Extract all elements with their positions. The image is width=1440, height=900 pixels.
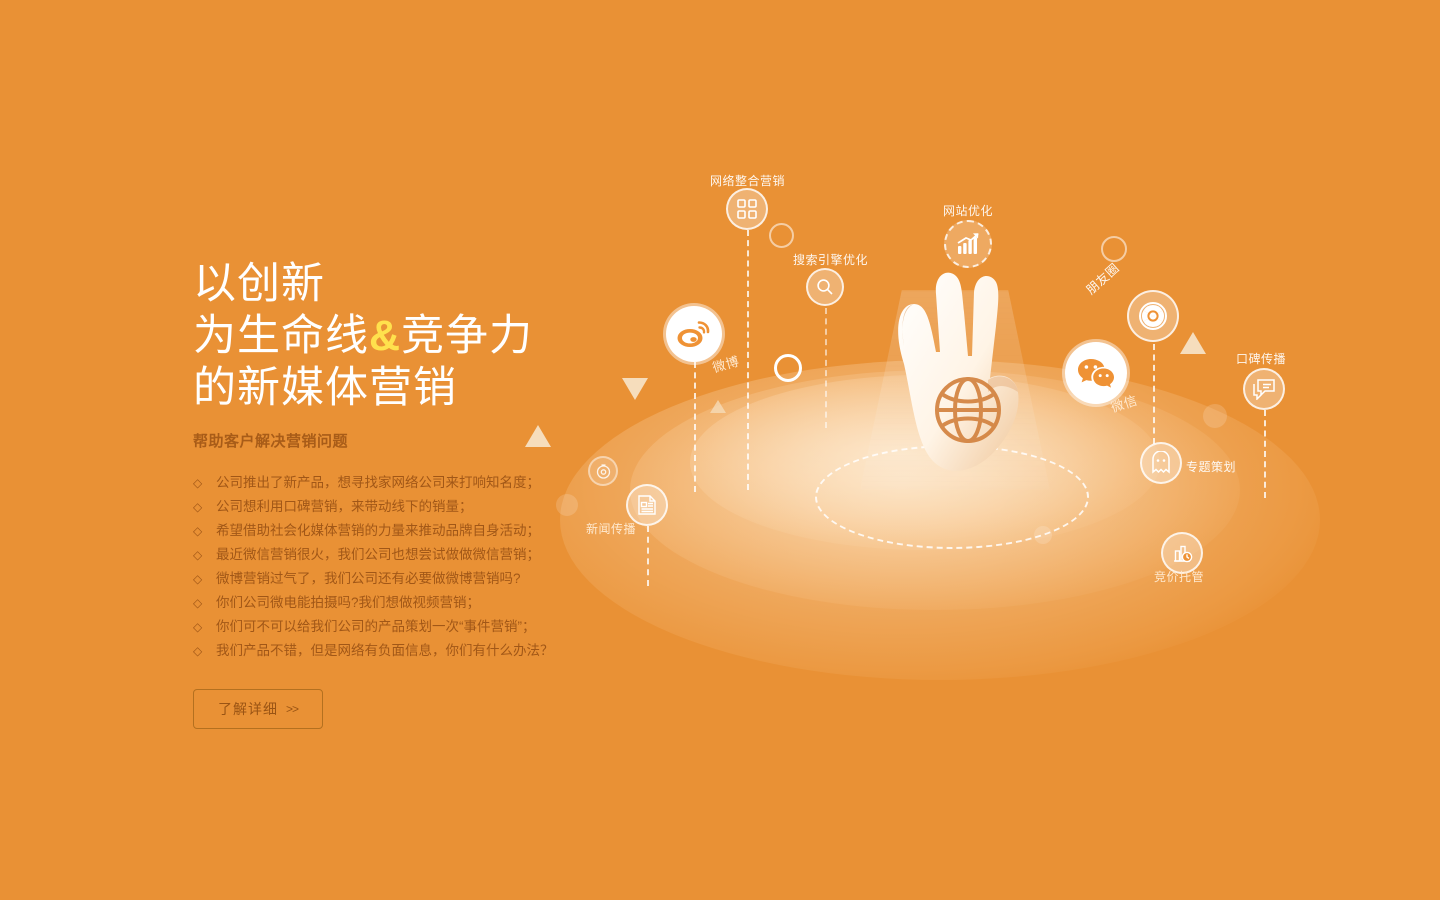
node-label-bidding-hosting: 竞价托管	[1154, 568, 1204, 585]
marketing-network-illustration: 网络整合营销 搜索引擎优化	[540, 120, 1340, 680]
list-item-label: 微博营销过气了，我们公司还有必要做微博营销吗?	[216, 567, 521, 591]
headline-line-2-head: 为生命线	[193, 312, 369, 360]
headline-ampersand: &	[369, 312, 401, 360]
node-label-news-spread: 新闻传播	[586, 520, 636, 537]
node-label-integrated-marketing: 网络整合营销	[710, 172, 785, 189]
triangle-up-decoration	[525, 425, 551, 447]
node-label-seo: 搜索引擎优化	[793, 251, 868, 268]
connector-line	[747, 230, 749, 490]
aperture-icon[interactable]	[1127, 290, 1179, 342]
list-item-label: 公司想利用口碑营销，来带动线下的销量；	[216, 495, 473, 519]
diamond-bullet-icon: ◇	[193, 519, 207, 543]
learn-more-label: 了解详细	[218, 699, 278, 719]
list-item-label: 你们可不可以给我们公司的产品策划一次“事件营销”；	[216, 615, 536, 639]
circle-filled-decoration	[556, 494, 578, 516]
diamond-bullet-icon: ◇	[193, 495, 207, 519]
diamond-bullet-icon: ◇	[193, 567, 207, 591]
circle-filled-decoration	[1034, 526, 1052, 544]
chat-bubbles-icon[interactable]	[1243, 368, 1285, 410]
connector-line	[1264, 410, 1266, 498]
triangle-up-decoration	[1180, 332, 1206, 354]
node-label-weibo: 微博	[710, 351, 741, 377]
headline-line-2-tail: 竞争力	[401, 312, 533, 360]
bar-chart-arrow-icon[interactable]	[944, 220, 992, 268]
double-chevron-right-icon: >>	[286, 702, 298, 716]
list-item-label: 我们产品不错，但是网络有负面信息，你们有什么办法？	[216, 639, 554, 663]
connector-line	[825, 308, 827, 428]
connector-line	[647, 526, 649, 586]
hero-banner: 以创新 为生命线&竞争力 的新媒体营销 帮助客户解决营销问题 ◇公司推出了新产品…	[0, 0, 1440, 900]
list-item-label: 最近微信营销很火，我们公司也想尝试做做微信营销；	[216, 543, 540, 567]
triangle-down-decoration	[622, 378, 648, 400]
circle-outline-decoration	[774, 354, 802, 382]
connector-line	[1153, 344, 1155, 444]
list-item-label: 公司推出了新产品，想寻找家网络公司来打响知名度；	[216, 471, 540, 495]
list-item-label: 希望借助社会化媒体营销的力量来推动品牌自身活动；	[216, 519, 540, 543]
diamond-bullet-icon: ◇	[193, 639, 207, 663]
circle-filled-decoration	[1203, 404, 1227, 428]
node-label-topic-planning: 专题策划	[1186, 458, 1236, 475]
node-label-site-optimization: 网站优化	[943, 202, 993, 219]
circle-outline-decoration	[1101, 236, 1127, 262]
list-item-label: 你们公司微电能拍摄吗?我们想做视频营销；	[216, 591, 480, 615]
circle-outline-decoration	[769, 223, 794, 248]
magnifier-icon[interactable]	[806, 268, 844, 306]
triangle-up-decoration	[710, 400, 726, 413]
learn-more-button[interactable]: 了解详细 >>	[193, 689, 323, 729]
ghost-icon[interactable]	[1140, 442, 1182, 484]
connector-line	[694, 362, 696, 492]
diamond-bullet-icon: ◇	[193, 543, 207, 567]
grid-icon[interactable]	[726, 188, 768, 230]
node-label-word-of-mouth: 口碑传播	[1236, 350, 1286, 367]
diamond-bullet-icon: ◇	[193, 471, 207, 495]
node-label-moments: 朋友圈	[1081, 258, 1123, 298]
hand-globe-icon	[870, 260, 1050, 520]
compass-icon[interactable]	[588, 456, 618, 486]
diamond-bullet-icon: ◇	[193, 615, 207, 639]
weibo-icon[interactable]	[666, 306, 722, 362]
diamond-bullet-icon: ◇	[193, 591, 207, 615]
